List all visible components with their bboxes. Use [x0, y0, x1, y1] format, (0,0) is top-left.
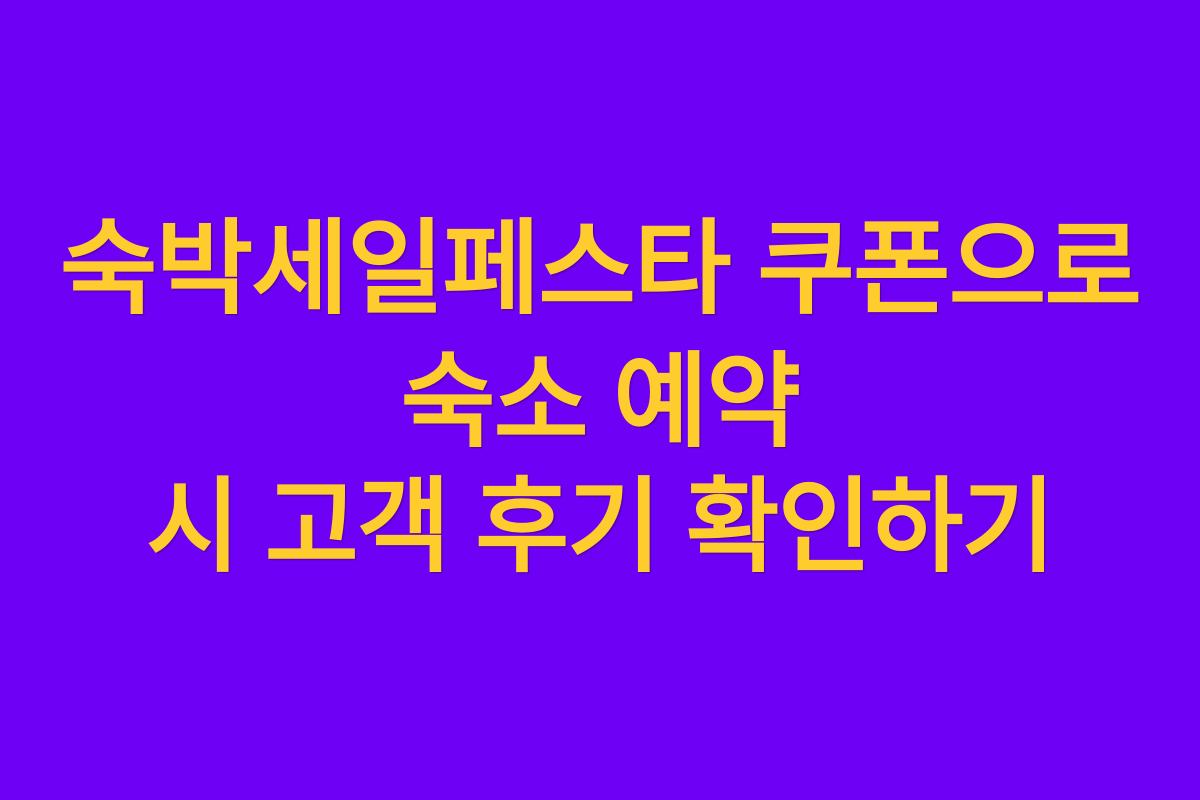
promo-banner: 숙박세일페스타 쿠폰으로 숙소 예약 시 고객 후기 확인하기 [0, 0, 1200, 800]
headline-line-1: 숙박세일페스타 쿠폰으로 [0, 217, 1200, 320]
headline-block: 숙박세일페스타 쿠폰으로 숙소 예약 시 고객 후기 확인하기 [0, 217, 1200, 578]
headline-line-3: 시 고객 후기 확인하기 [6, 475, 1194, 578]
headline-line-2: 숙소 예약 [0, 350, 1200, 453]
